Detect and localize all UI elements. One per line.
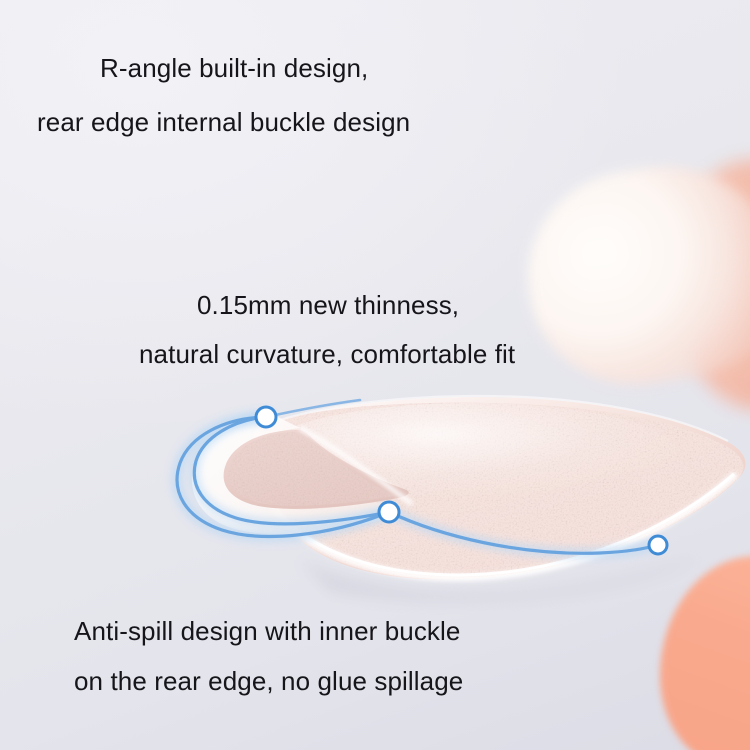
bottom-caption-line-1: Anti-spill design with inner buckle [74, 609, 460, 653]
mid-caption-line-2: natural curvature, comfortable fit [139, 332, 515, 376]
bottom-caption-line-2: on the rear edge, no glue spillage [74, 659, 463, 703]
marker-curl-tip[interactable] [379, 502, 399, 522]
mid-caption-line-1: 0.15mm new thinness, [197, 283, 459, 327]
marker-curl-top[interactable] [256, 407, 276, 427]
headline-line-2: rear edge internal buckle design [37, 100, 410, 144]
headline-line-1: R-angle built-in design, [100, 46, 368, 90]
marker-rear-edge[interactable] [649, 536, 667, 554]
product-image-canvas: R-angle built-in design, rear edge inter… [0, 0, 750, 750]
